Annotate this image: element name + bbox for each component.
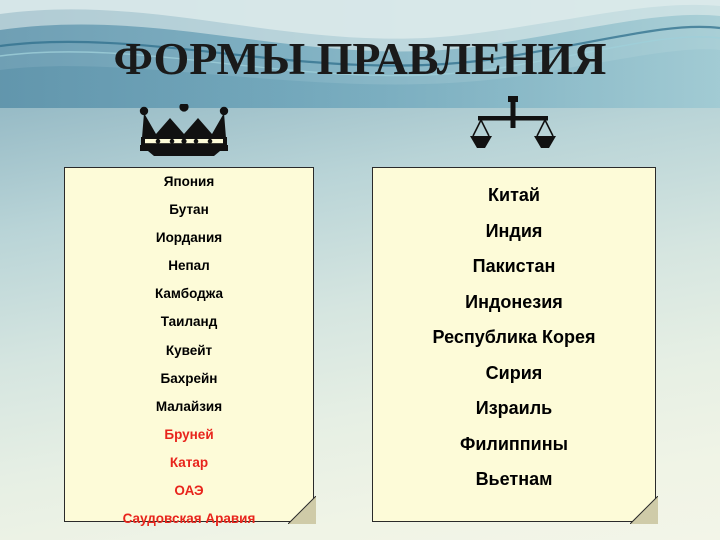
list-item: Бахрейн bbox=[65, 372, 313, 386]
list-item: Япония bbox=[65, 175, 313, 189]
list-item: Республика Корея bbox=[373, 328, 655, 346]
list-item: Бутан bbox=[65, 203, 313, 217]
list-item: Непал bbox=[65, 259, 313, 273]
list-item: Китай bbox=[373, 186, 655, 204]
slide-title-container: ФОРМЫ ПРАВЛЕНИЯ bbox=[0, 36, 720, 82]
list-item: Израиль bbox=[373, 399, 655, 417]
monarchies-card: Япония Бутан Иордания Непал Камбоджа Таи… bbox=[64, 167, 314, 522]
list-item: Камбоджа bbox=[65, 287, 313, 301]
list-item: ОАЭ bbox=[65, 484, 313, 498]
list-item: Катар bbox=[65, 456, 313, 470]
list-item: Кувейт bbox=[65, 344, 313, 358]
list-item: Сирия bbox=[373, 364, 655, 382]
slide: ФОРМЫ ПРАВЛЕНИЯ bbox=[0, 0, 720, 540]
list-item: Индия bbox=[373, 222, 655, 240]
page-fold-corner bbox=[630, 496, 656, 522]
republics-list: Китай Индия Пакистан Индонезия Республик… bbox=[373, 168, 655, 488]
crown-icon bbox=[136, 104, 232, 156]
page-fold-corner bbox=[288, 496, 314, 522]
list-item: Индонезия bbox=[373, 293, 655, 311]
scales-icon bbox=[470, 96, 556, 158]
republics-card: Китай Индия Пакистан Индонезия Республик… bbox=[372, 167, 656, 522]
list-item: Малайзия bbox=[65, 400, 313, 414]
monarchies-list: Япония Бутан Иордания Непал Камбоджа Таи… bbox=[65, 168, 313, 540]
list-item: Таиланд bbox=[65, 315, 313, 329]
slide-title: ФОРМЫ ПРАВЛЕНИЯ bbox=[0, 36, 720, 82]
list-item: Иордания bbox=[65, 231, 313, 245]
list-item: Бруней bbox=[65, 428, 313, 442]
list-item: Вьетнам bbox=[373, 470, 655, 488]
list-item: Саудовская Аравия bbox=[65, 512, 313, 526]
list-item: Филиппины bbox=[373, 435, 655, 453]
list-item: Пакистан bbox=[373, 257, 655, 275]
